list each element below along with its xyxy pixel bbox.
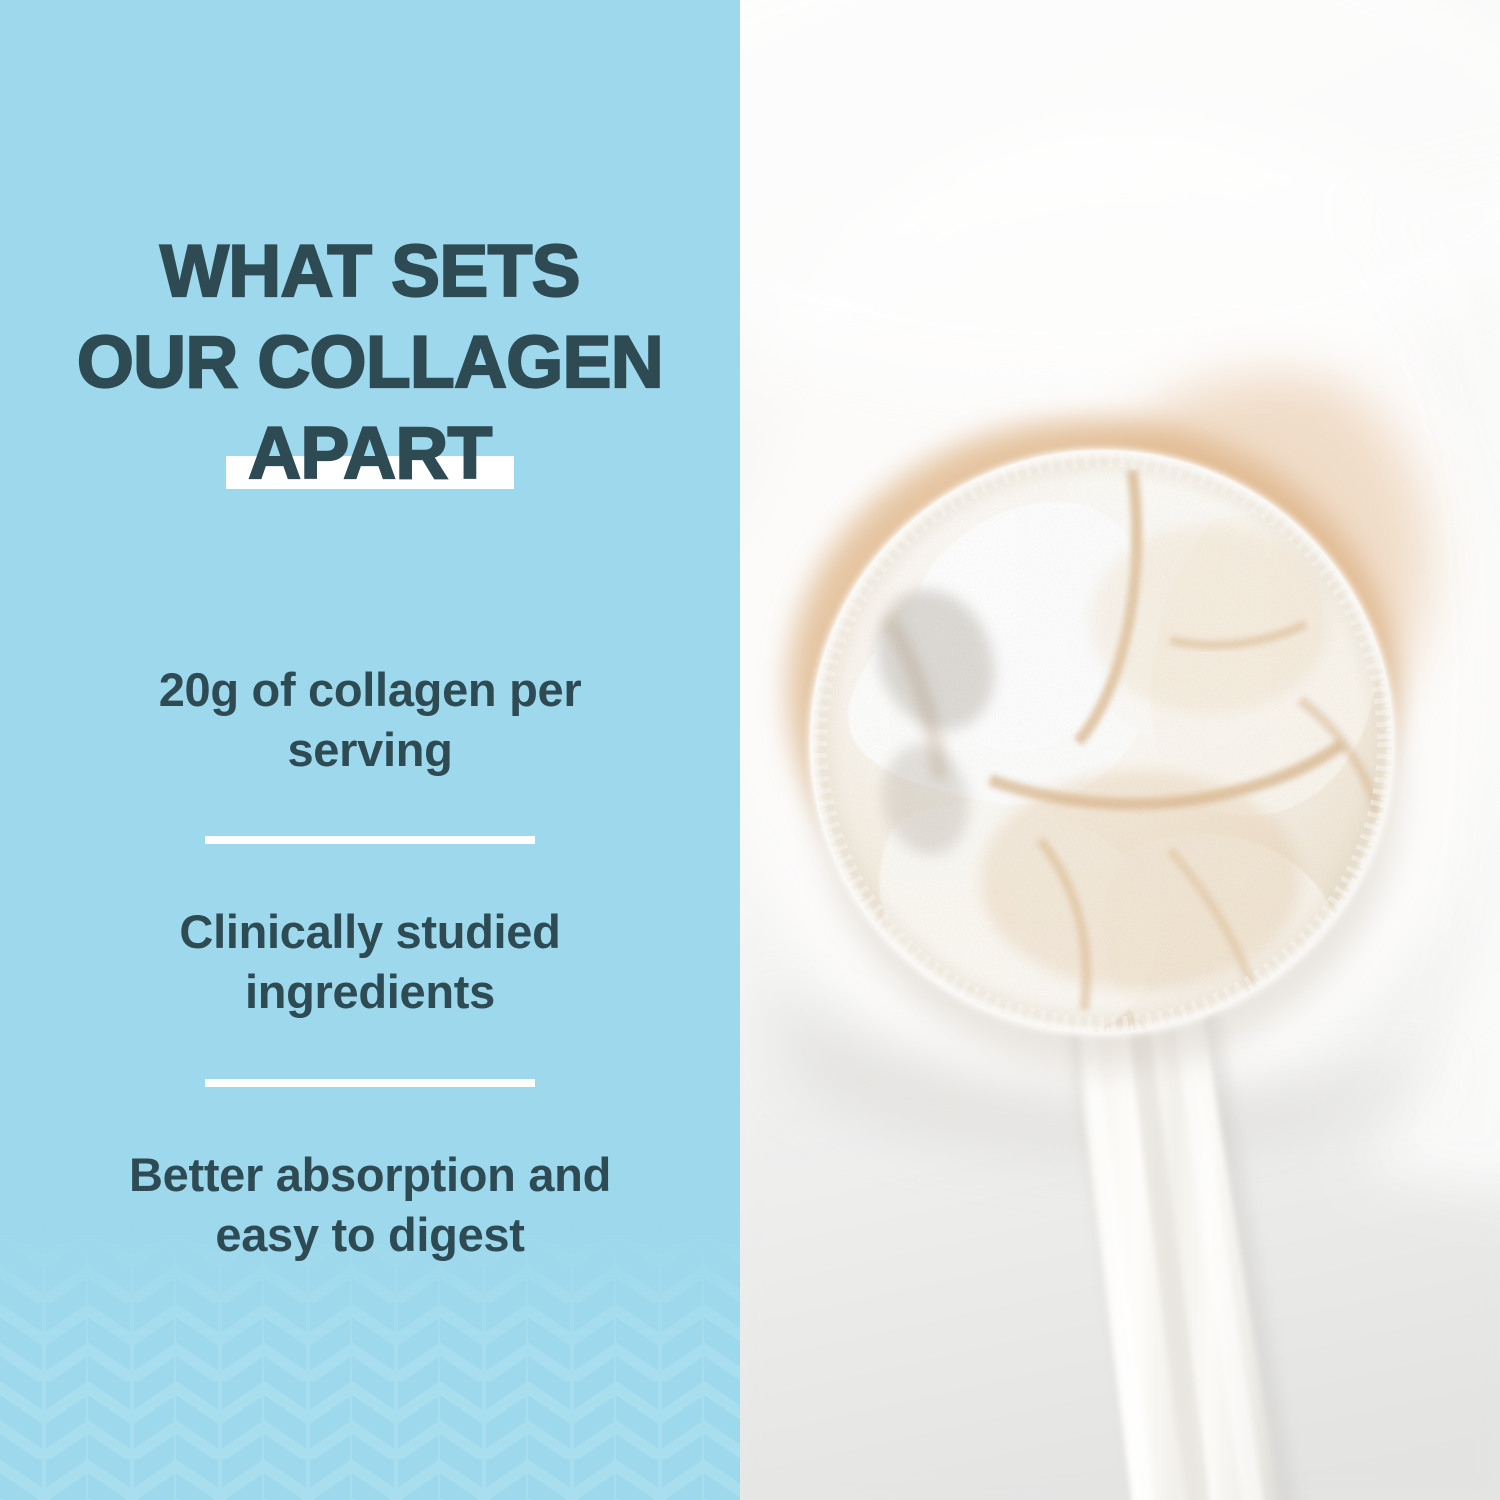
benefit-divider-2-wrap (0, 1023, 740, 1145)
benefit-item-1: 20g of collagen per serving (0, 660, 740, 780)
benefit-divider-2 (205, 1079, 535, 1087)
product-photo-illustration (740, 0, 1500, 1500)
left-content-panel: WHAT SETS OUR COLLAGEN APART 20g of coll… (0, 0, 740, 1500)
benefit-item-2: Clinically studied ingredients (0, 902, 740, 1022)
headline-line-2: OUR COLLAGEN (0, 329, 740, 396)
benefits-list: 20g of collagen per serving Clinically s… (0, 660, 740, 1265)
headline-line-1: WHAT SETS (0, 238, 740, 305)
benefit-item-3: Better absorption and easy to digest (0, 1145, 740, 1265)
infographic-container: WHAT SETS OUR COLLAGEN APART 20g of coll… (0, 0, 1500, 1500)
benefit-divider-1-wrap (0, 780, 740, 902)
photo-top-bloom (740, 0, 1500, 390)
headline: WHAT SETS OUR COLLAGEN APART (0, 238, 740, 487)
headline-highlight-wrap: APART (248, 420, 492, 487)
benefit-divider-1 (205, 836, 535, 844)
chevron-pattern-decoration (0, 1225, 740, 1500)
headline-line-3: APART (0, 420, 740, 487)
headline-line-3-text: APART (248, 413, 492, 494)
product-photo (740, 0, 1500, 1500)
